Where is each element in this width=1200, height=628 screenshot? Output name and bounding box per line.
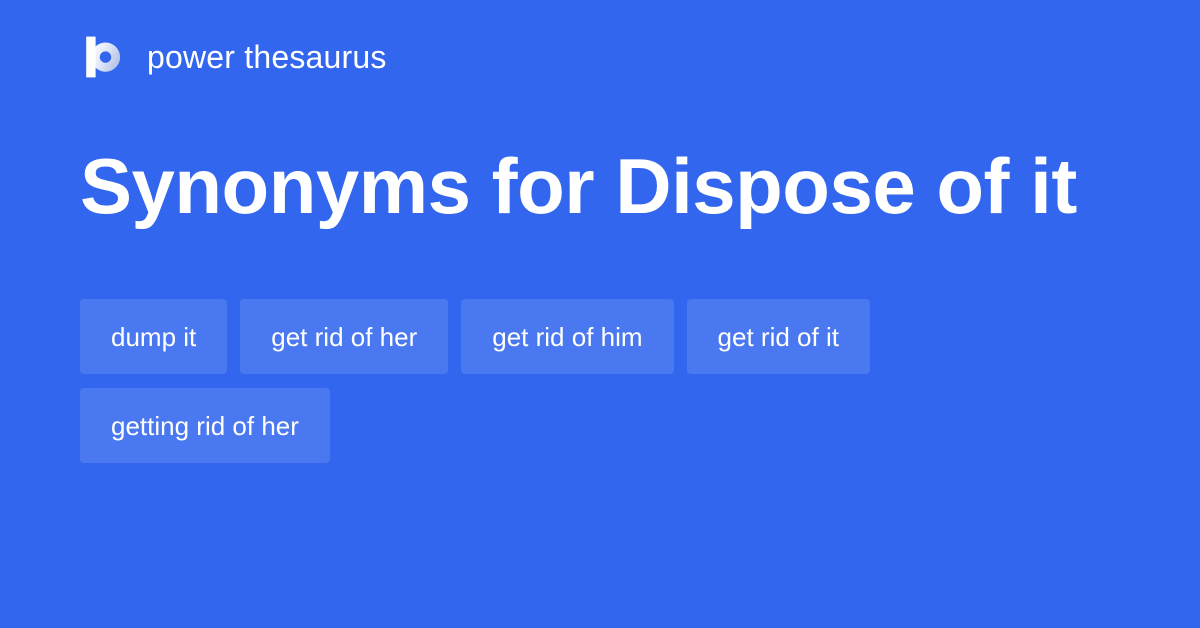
synonyms-share-card: power thesaurus Synonyms for Dispose of … bbox=[0, 0, 1200, 628]
brand-header[interactable]: power thesaurus bbox=[80, 27, 1120, 87]
brand-name: power thesaurus bbox=[147, 41, 387, 73]
page-title: Synonyms for Dispose of it bbox=[80, 131, 1080, 241]
synonym-chip[interactable]: get rid of it bbox=[687, 299, 870, 374]
power-thesaurus-b-logo-icon bbox=[80, 34, 126, 80]
synonym-chip[interactable]: get rid of her bbox=[240, 299, 448, 374]
synonym-chip[interactable]: dump it bbox=[80, 299, 227, 374]
synonym-chip[interactable]: get rid of him bbox=[461, 299, 673, 374]
synonym-chip-list: dump it get rid of her get rid of him ge… bbox=[80, 299, 1120, 463]
synonym-chip[interactable]: getting rid of her bbox=[80, 388, 330, 463]
